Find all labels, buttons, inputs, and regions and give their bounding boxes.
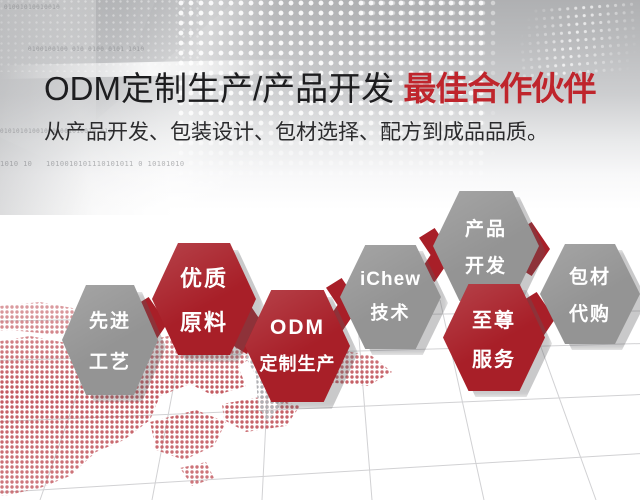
banner-title-accent: 最佳合作伙伴 [403, 70, 595, 107]
binary-text-1: 01001010010010 [4, 4, 60, 11]
hex-node-product-development-line2: 开发 [465, 251, 507, 278]
hex-node-advanced-process-line1: 先进 [89, 306, 131, 333]
banner-subtitle: 从产品开发、包装设计、包材选择、配方到成品品质。 [44, 118, 548, 148]
hex-node-odm-manufacturing-line2: 定制生产 [260, 350, 336, 376]
hex-node-quality-materials-line1: 优质 [180, 261, 228, 293]
binary-text-4: 1010010101110101011 0 10101010 [46, 160, 184, 168]
banner-title-prefix: ODM定制生产/产品开发 [44, 70, 394, 107]
odm-promo-banner: 01001010010010 0100100100 010 0100 0101 … [0, 0, 640, 500]
hex-node-packaging-sourcing-line2: 代购 [569, 299, 611, 326]
banner-title: ODM定制生产/产品开发 最佳合作伙伴 [44, 68, 595, 110]
hex-node-premium-service-line2: 服务 [472, 343, 516, 372]
hex-node-odm-manufacturing-line1: ODM [270, 316, 325, 340]
binary-text-5: 1010 10 [0, 160, 32, 168]
hex-node-advanced-process-line2: 工艺 [89, 347, 131, 374]
hex-node-quality-materials-line2: 原料 [180, 305, 228, 337]
hex-node-packaging-sourcing-line1: 包材 [569, 262, 611, 289]
hex-node-ichew-technology-line1: iChew [360, 269, 421, 291]
hex-node-product-development-line1: 产品 [465, 214, 507, 241]
hex-node-premium-service-line1: 至尊 [472, 304, 516, 333]
hex-node-ichew-technology-line2: 技术 [371, 299, 411, 325]
binary-text-2: 0100100100 010 0100 0101 1010 [28, 46, 144, 53]
